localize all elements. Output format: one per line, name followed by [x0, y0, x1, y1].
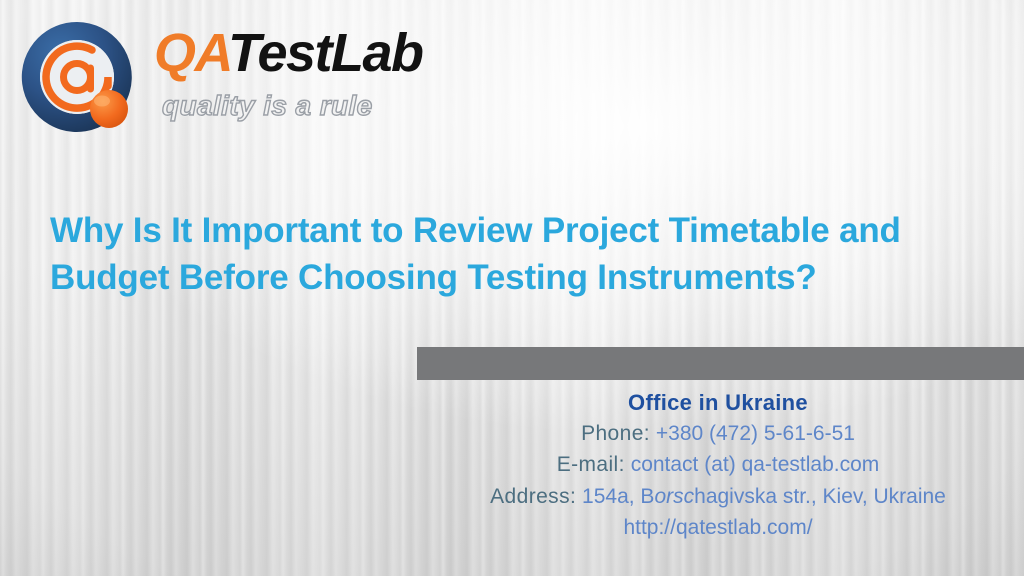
presentation-slide: QATestLab quality is a rule Why Is It Im…: [0, 0, 1024, 576]
contact-email-row: E-mail: contact (at) qa-testlab.com: [412, 449, 1024, 480]
contact-address-value-pre: 154a, B: [582, 485, 654, 508]
contact-email-label: E-mail:: [557, 453, 625, 476]
contact-website-link[interactable]: http://qatestlab.com/: [623, 516, 812, 539]
logo-wordmark: QATestLab: [154, 26, 423, 80]
contact-website-row[interactable]: http://qatestlab.com/: [412, 512, 1024, 543]
contact-heading: Office in Ukraine: [412, 388, 1024, 418]
contact-address-value-italic: orsc: [654, 485, 694, 508]
contact-phone-value: +380 (472) 5-61-6-51: [656, 422, 855, 445]
qatestlab-logo: QATestLab quality is a rule: [14, 12, 474, 134]
logo-tagline: quality is a rule: [162, 92, 373, 120]
logo-wordmark-accent: QA: [154, 23, 228, 83]
logo-wordmark-rest: TestLab: [228, 23, 423, 83]
contact-address-label: Address:: [490, 485, 576, 508]
slide-title: Why Is It Important to Review Project Ti…: [50, 208, 965, 300]
contact-address-row: Address: 154a, Borschagivska str., Kiev,…: [412, 481, 1024, 512]
contact-address-value-post: hagivska str., Kiev, Ukraine: [694, 485, 946, 508]
contact-phone-row: Phone: +380 (472) 5-61-6-51: [412, 418, 1024, 449]
contact-phone-label: Phone:: [581, 422, 650, 445]
divider-bar: [417, 347, 1024, 380]
at-symbol-ring-logo-icon: [16, 16, 138, 138]
contact-block: Office in Ukraine Phone: +380 (472) 5-61…: [412, 388, 1024, 543]
contact-email-value: contact (at) qa-testlab.com: [631, 453, 880, 476]
